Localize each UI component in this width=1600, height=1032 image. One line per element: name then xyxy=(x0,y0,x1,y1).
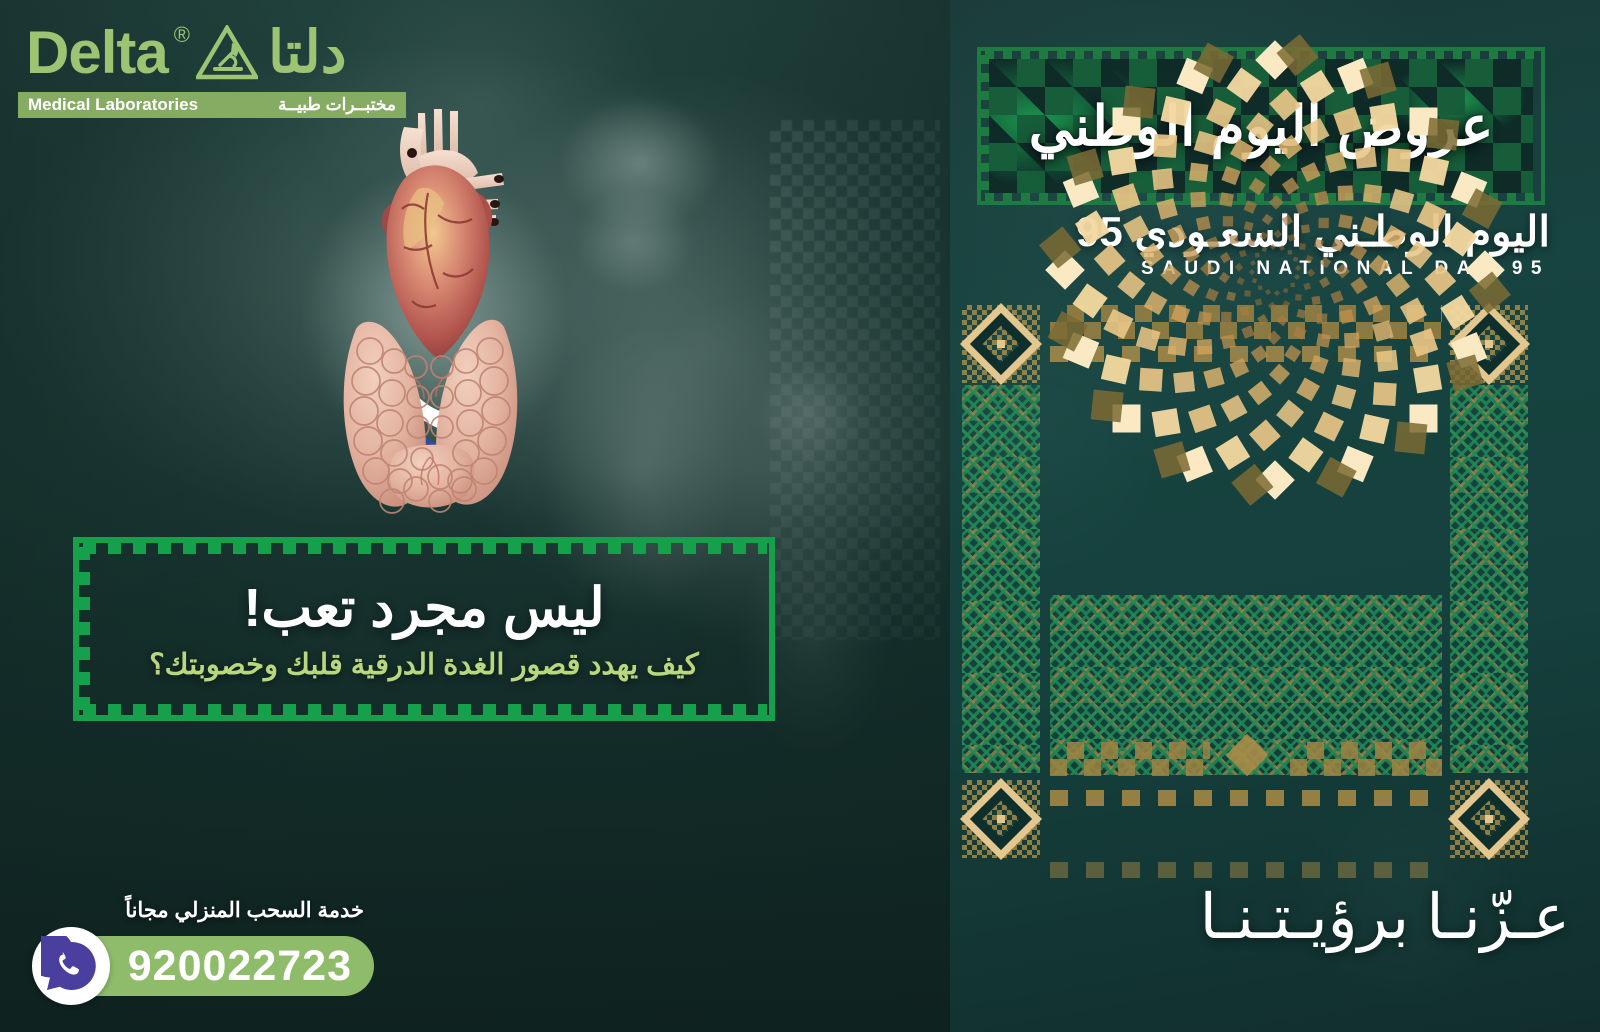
brand-name-ar: دلتا xyxy=(268,24,347,82)
phone-pill[interactable]: 920022723 xyxy=(66,936,374,996)
brand-logo: Delta ® دلتا Medical Laboratories مختبــ… xyxy=(18,18,418,116)
sadu-diamond-motif xyxy=(962,780,1040,858)
frame-edge-right xyxy=(769,537,775,721)
frame-edge-bottom xyxy=(73,715,775,721)
brand-name-en: Delta xyxy=(26,24,168,82)
brand-logo-row: Delta ® دلتا xyxy=(18,18,418,88)
sadu-checkrow-bottom-right xyxy=(1290,742,1442,776)
phone-number: 920022723 xyxy=(128,942,352,991)
sadu-lattice-left xyxy=(962,385,1040,773)
sadu-dashrow-bottom xyxy=(1050,790,1442,806)
microscope-triangle-icon xyxy=(196,25,258,81)
sadu-diamond-motif xyxy=(1450,780,1528,858)
whatsapp-icon[interactable] xyxy=(32,927,110,1005)
golden-square-spiral-rosette xyxy=(1035,30,1515,510)
thyroid-gland-and-heart-illustration xyxy=(300,105,560,525)
brand-tagline-en: Medical Laboratories xyxy=(28,95,198,115)
headline-frame: ليس مجرد تعب! كيف يهدد قصور الغدة الدرقي… xyxy=(73,537,775,721)
headline-subtitle: كيف يهدد قصور الغدة الدرقية قلبك وخصوبتك… xyxy=(149,647,698,682)
national-day-panel: عروض اليوم الوطني اليوم الوطـني السعـودي… xyxy=(950,0,1600,1032)
headline-title: ليس مجرد تعب! xyxy=(243,576,604,639)
sadu-diamond-motif xyxy=(962,305,1040,383)
headline-content: ليس مجرد تعب! كيف يهدد قصور الغدة الدرقي… xyxy=(87,551,761,707)
national-day-slogan: عـزّنـا برؤيـتـنـا xyxy=(950,880,1570,953)
sadu-checkrow-bottom-left xyxy=(1050,742,1210,776)
sadu-dashrow-footer xyxy=(1050,862,1442,878)
registered-trademark-icon: ® xyxy=(174,22,190,48)
home-collection-label: خدمة السحب المنزلي مجاناً xyxy=(125,898,364,923)
poster-canvas: Delta ® دلتا Medical Laboratories مختبــ… xyxy=(0,0,1600,1032)
contact-block: خدمة السحب المنزلي مجاناً 920022723 xyxy=(22,898,382,1010)
